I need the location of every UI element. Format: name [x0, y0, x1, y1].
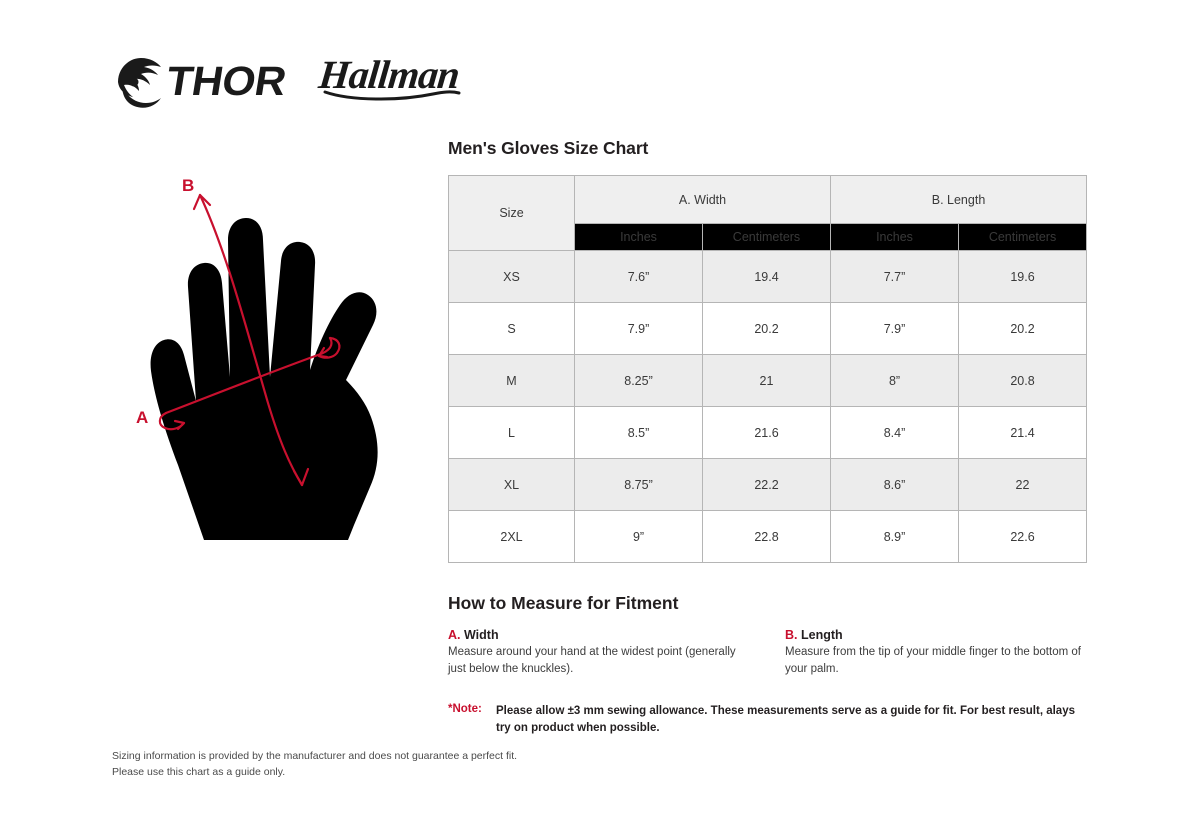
- table-row: M 8.25” 21 8” 20.8: [449, 355, 1087, 407]
- diagram-label-b: B: [182, 176, 194, 195]
- table-row: 2XL 9” 22.8 8.9” 22.6: [449, 511, 1087, 563]
- cell-width-inches: 7.6”: [575, 251, 703, 303]
- header-width-centimeters: Centimeters: [703, 224, 831, 251]
- diagram-label-a: A: [136, 408, 148, 427]
- table-header: Size A. Width B. Length Inches Centimete…: [449, 176, 1087, 251]
- cell-width-centimeters: 21: [703, 355, 831, 407]
- header-length-inches: Inches: [831, 224, 959, 251]
- cell-size: L: [449, 407, 575, 459]
- cell-size: M: [449, 355, 575, 407]
- cell-width-inches: 7.9”: [575, 303, 703, 355]
- table-body: XS 7.6” 19.4 7.7” 19.6 S 7.9” 20.2 7.9” …: [449, 251, 1087, 563]
- measure-item-length: B. Length Measure from the tip of your m…: [785, 628, 1088, 677]
- thor-logo: THOR: [110, 52, 283, 108]
- size-chart-table: Size A. Width B. Length Inches Centimete…: [448, 175, 1087, 563]
- header-size: Size: [449, 176, 575, 251]
- cell-length-inches: 8”: [831, 355, 959, 407]
- cell-length-inches: 8.6”: [831, 459, 959, 511]
- hand-measurement-diagram: B A: [118, 165, 438, 540]
- cell-width-inches: 8.75”: [575, 459, 703, 511]
- measure-item-heading: A. Width: [448, 628, 751, 642]
- how-to-measure-title: How to Measure for Fitment: [448, 593, 1088, 614]
- cell-length-centimeters: 20.8: [959, 355, 1087, 407]
- cell-width-inches: 8.25”: [575, 355, 703, 407]
- measure-description-width: Measure around your hand at the widest p…: [448, 644, 751, 677]
- table-row: S 7.9” 20.2 7.9” 20.2: [449, 303, 1087, 355]
- thor-helmet-icon: [110, 52, 168, 108]
- cell-length-inches: 8.9”: [831, 511, 959, 563]
- disclaimer: Sizing information is provided by the ma…: [112, 748, 542, 781]
- disclaimer-line-1: Sizing information is provided by the ma…: [112, 748, 542, 764]
- note-row: *Note: Please allow ±3 mm sewing allowan…: [448, 703, 1088, 736]
- header-width-inches: Inches: [575, 224, 703, 251]
- measure-letter-b: B.: [785, 628, 798, 642]
- measure-letter-a: A.: [448, 628, 461, 642]
- page-title: Men's Gloves Size Chart: [448, 138, 1088, 159]
- note-label: *Note:: [448, 703, 496, 715]
- cell-width-centimeters: 20.2: [703, 303, 831, 355]
- size-chart-content: Men's Gloves Size Chart Size A. Width B.…: [448, 138, 1088, 737]
- cell-length-centimeters: 19.6: [959, 251, 1087, 303]
- measure-name-length: Length: [801, 628, 843, 642]
- how-to-measure-columns: A. Width Measure around your hand at the…: [448, 628, 1088, 677]
- disclaimer-line-2: Please use this chart as a guide only.: [112, 764, 542, 780]
- hand-silhouette-icon: [151, 218, 378, 540]
- hallman-wordmark: Hallman: [317, 55, 465, 95]
- cell-size: 2XL: [449, 511, 575, 563]
- note-text: Please allow ±3 mm sewing allowance. The…: [496, 703, 1088, 736]
- header-group-width: A. Width: [575, 176, 831, 224]
- cell-size: XS: [449, 251, 575, 303]
- measure-description-length: Measure from the tip of your middle fing…: [785, 644, 1088, 677]
- cell-width-centimeters: 21.6: [703, 407, 831, 459]
- cell-width-inches: 8.5”: [575, 407, 703, 459]
- cell-length-inches: 7.7”: [831, 251, 959, 303]
- cell-length-inches: 7.9”: [831, 303, 959, 355]
- table-row: XL 8.75” 22.2 8.6” 22: [449, 459, 1087, 511]
- thor-wordmark: THOR: [163, 61, 288, 102]
- cell-length-centimeters: 20.2: [959, 303, 1087, 355]
- measure-name-width: Width: [464, 628, 499, 642]
- brand-logo-bar: THOR Hallman: [110, 45, 530, 115]
- measure-item-width: A. Width Measure around your hand at the…: [448, 628, 751, 677]
- cell-width-centimeters: 22.2: [703, 459, 831, 511]
- cell-width-centimeters: 19.4: [703, 251, 831, 303]
- cell-size: XL: [449, 459, 575, 511]
- header-group-length: B. Length: [831, 176, 1087, 224]
- cell-width-centimeters: 22.8: [703, 511, 831, 563]
- cell-length-centimeters: 21.4: [959, 407, 1087, 459]
- how-to-measure-section: How to Measure for Fitment A. Width Meas…: [448, 593, 1088, 677]
- cell-length-centimeters: 22: [959, 459, 1087, 511]
- measure-item-heading: B. Length: [785, 628, 1088, 642]
- header-row-groups: Size A. Width B. Length: [449, 176, 1087, 224]
- cell-length-inches: 8.4”: [831, 407, 959, 459]
- header-length-centimeters: Centimeters: [959, 224, 1087, 251]
- cell-size: S: [449, 303, 575, 355]
- cell-length-centimeters: 22.6: [959, 511, 1087, 563]
- table-row: XS 7.6” 19.4 7.7” 19.6: [449, 251, 1087, 303]
- table-row: L 8.5” 21.6 8.4” 21.4: [449, 407, 1087, 459]
- hallman-logo: Hallman: [319, 55, 463, 102]
- cell-width-inches: 9”: [575, 511, 703, 563]
